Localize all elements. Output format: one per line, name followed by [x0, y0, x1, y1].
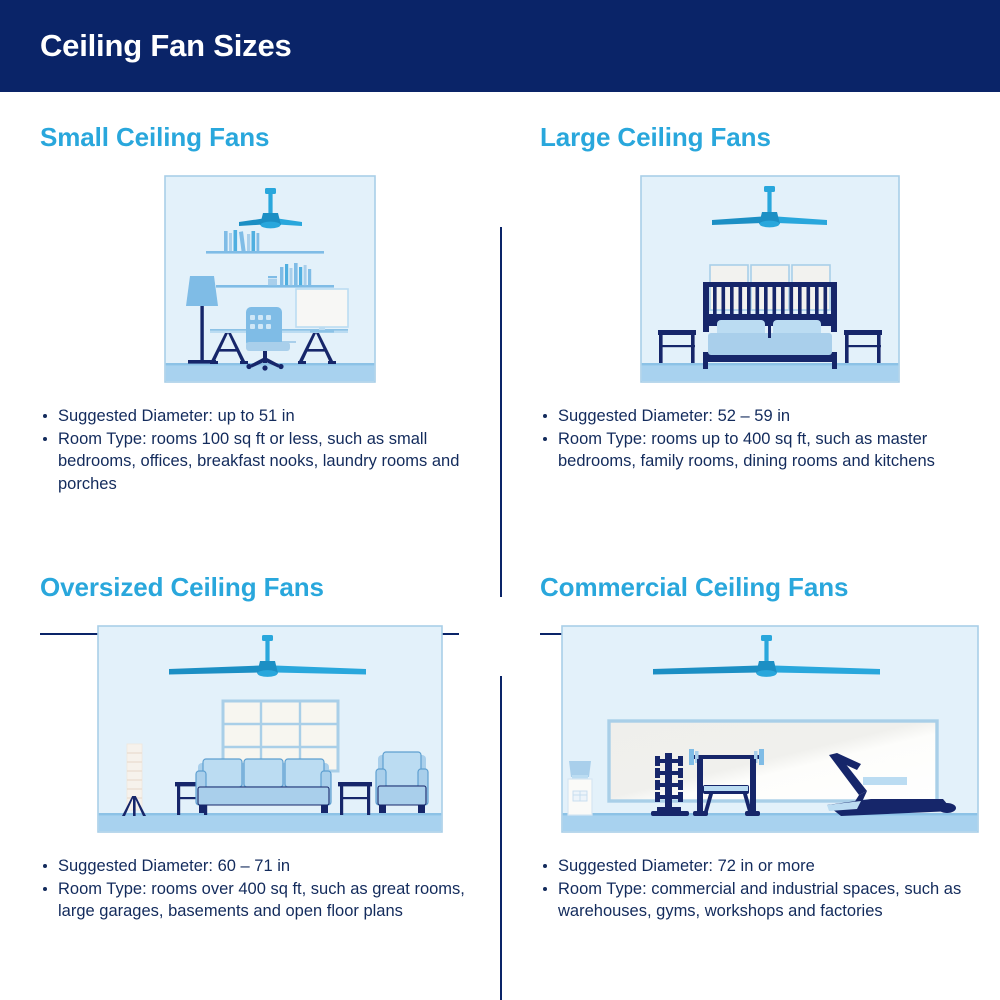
section-title-large: Large Ceiling Fans	[540, 122, 1000, 153]
scene-gym	[561, 625, 979, 833]
page-header: Ceiling Fan Sizes	[0, 0, 1000, 92]
wall-art-triptych	[710, 265, 830, 310]
scene-home-office	[164, 175, 376, 383]
vertical-divider-top	[500, 227, 502, 597]
bullet-room-type-commercial: Room Type: commercial and industrial spa…	[540, 878, 1000, 923]
bullet-diameter-oversized: Suggested Diameter: 60 – 71 in	[40, 855, 500, 878]
page-title: Ceiling Fan Sizes	[40, 28, 292, 64]
vertical-divider-bottom	[500, 676, 502, 1000]
bullet-room-type-large: Room Type: rooms up to 400 sq ft, such a…	[540, 428, 1000, 473]
bullet-list-commercial: Suggested Diameter: 72 in or more Room T…	[540, 855, 1000, 923]
section-oversized-ceiling-fans: Oversized Ceiling Fans	[40, 572, 500, 923]
section-commercial-ceiling-fans: Commercial Ceiling Fans	[540, 572, 1000, 923]
armchair	[376, 752, 428, 813]
scene-bedroom	[640, 175, 900, 383]
scene-living-room	[97, 625, 443, 833]
computer-monitor	[296, 289, 348, 333]
floor	[642, 363, 898, 381]
sections-grid: Small Ceiling Fans	[0, 92, 1000, 1000]
section-title-oversized: Oversized Ceiling Fans	[40, 572, 500, 603]
bullet-diameter-commercial: Suggested Diameter: 72 in or more	[540, 855, 1000, 878]
bullet-list-large: Suggested Diameter: 52 – 59 in Room Type…	[540, 405, 1000, 473]
section-large-ceiling-fans: Large Ceiling Fans	[540, 122, 1000, 473]
scene-gym-wrap	[540, 625, 1000, 833]
bullet-room-type-oversized: Room Type: rooms over 400 sq ft, such as…	[40, 878, 500, 923]
floor	[166, 363, 374, 381]
floor	[99, 813, 441, 831]
scene-bedroom-wrap	[540, 175, 1000, 383]
bullet-room-type-small: Room Type: rooms 100 sq ft or less, such…	[40, 428, 500, 496]
sofa	[196, 759, 331, 813]
bullet-list-oversized: Suggested Diameter: 60 – 71 in Room Type…	[40, 855, 500, 923]
scene-home-office-wrap	[40, 175, 500, 383]
bullet-diameter-small: Suggested Diameter: up to 51 in	[40, 405, 500, 428]
infographic-page: Ceiling Fan Sizes Small Ceiling Fans	[0, 0, 1000, 1000]
bullet-diameter-large: Suggested Diameter: 52 – 59 in	[540, 405, 1000, 428]
section-title-small: Small Ceiling Fans	[40, 122, 500, 153]
section-title-commercial: Commercial Ceiling Fans	[540, 572, 1000, 603]
section-small-ceiling-fans: Small Ceiling Fans	[40, 122, 500, 495]
water-cooler	[568, 761, 592, 815]
scene-living-room-wrap	[40, 625, 500, 833]
floor	[563, 813, 977, 831]
bullet-list-small: Suggested Diameter: up to 51 in Room Typ…	[40, 405, 500, 495]
